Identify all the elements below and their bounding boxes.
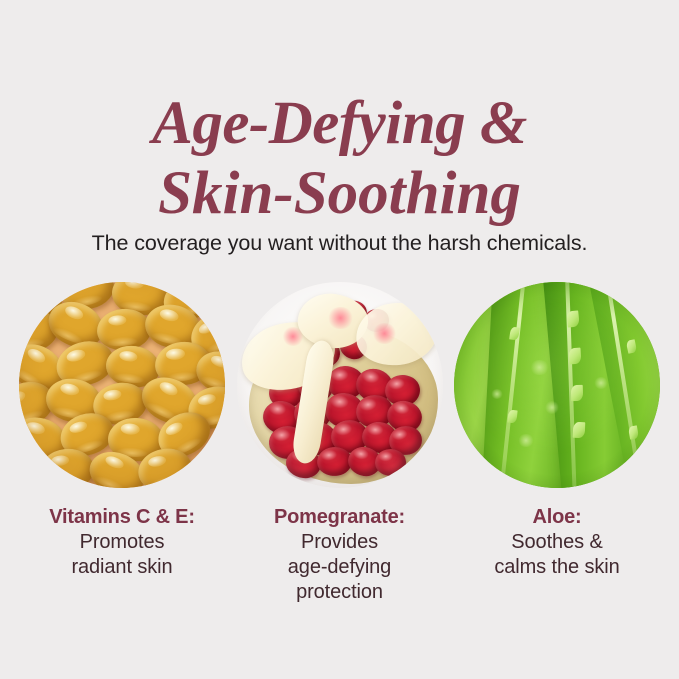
page-title-line-1: Age-Defying &: [0, 89, 679, 159]
ingredient-body-line: Provides: [232, 530, 447, 555]
vitamin-softgel-capsules-photo: [19, 282, 225, 488]
ingredient-item-vitamins: Vitamins C & E: Promotes radiant skin: [18, 282, 226, 605]
ingredient-title: Vitamins C & E:: [15, 504, 230, 530]
ingredient-body: Soothes & calms the skin: [450, 530, 665, 580]
ingredient-body-line: calms the skin: [450, 555, 665, 580]
ingredient-body-line: age-defying: [232, 555, 447, 580]
ingredient-caption-aloe: Aloe: Soothes & calms the skin: [450, 504, 665, 580]
ingredient-list: Vitamins C & E: Promotes radiant skin: [0, 282, 679, 605]
ingredient-title: Pomegranate:: [232, 504, 447, 530]
ingredient-item-aloe: Aloe: Soothes & calms the skin: [453, 282, 661, 605]
ingredient-caption-pomegranate: Pomegranate: Provides age-defying protec…: [232, 504, 447, 605]
ingredient-item-pomegranate: Pomegranate: Provides age-defying protec…: [236, 282, 444, 605]
ingredient-title: Aloe:: [450, 504, 665, 530]
ingredient-body-line: radiant skin: [15, 555, 230, 580]
ingredient-body-line: Promotes: [15, 530, 230, 555]
ingredient-body-line: Soothes &: [450, 530, 665, 555]
ingredient-caption-vitamins: Vitamins C & E: Promotes radiant skin: [15, 504, 230, 580]
ingredient-body: Promotes radiant skin: [15, 530, 230, 580]
subtitle: The coverage you want without the harsh …: [0, 228, 679, 258]
aloe-vera-leaves-photo: [454, 282, 660, 488]
page-title-line-2: Skin-Soothing: [0, 159, 679, 229]
page-title: Age-Defying & Skin-Soothing: [0, 89, 679, 229]
product-benefits-infographic: Age-Defying & Skin-Soothing The coverage…: [0, 0, 679, 679]
ingredient-body: Provides age-defying protection: [232, 530, 447, 605]
pomegranate-photo: [237, 282, 443, 488]
ingredient-body-line: protection: [232, 580, 447, 605]
